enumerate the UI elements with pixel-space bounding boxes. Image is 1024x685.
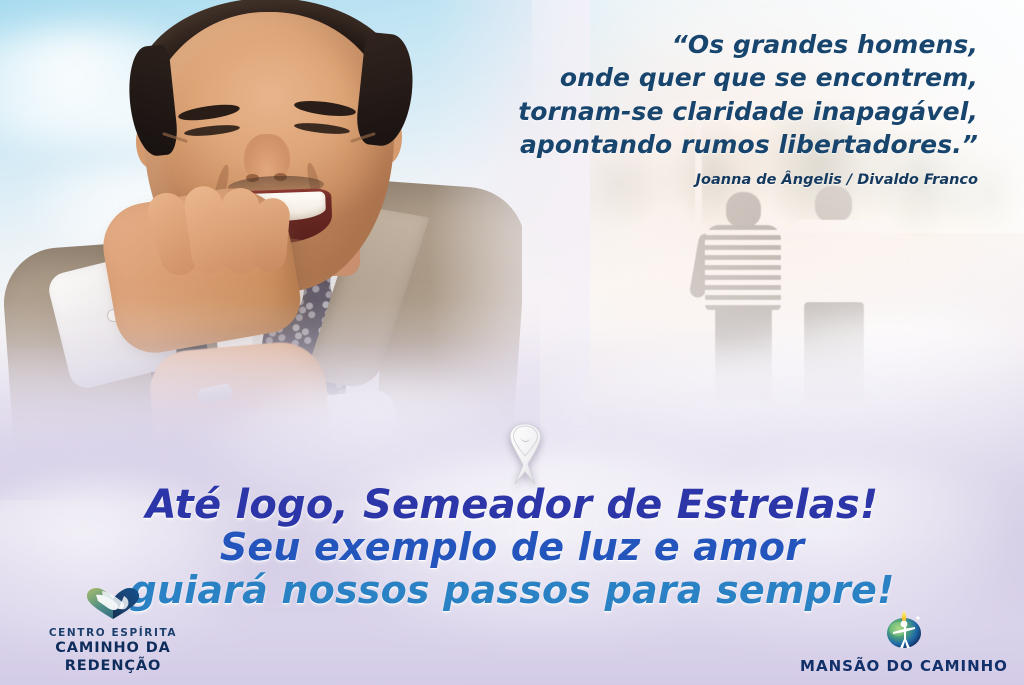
quote-attribution: Joanna de Ângelis / Divaldo Franco <box>418 172 978 188</box>
quote-line-3: tornam-se claridade inapagável, <box>418 95 978 128</box>
quote-block: “Os grandes homens, onde quer que se enc… <box>418 28 978 161</box>
logo-left-line-1: CENTRO ESPÍRITA <box>8 627 218 640</box>
globe-figure-flame-icon <box>796 606 1012 654</box>
logo-left-line-2: CAMINHO DA REDENÇÃO <box>8 640 218 675</box>
headline-line-2: Seu exemplo de luz e amor <box>0 526 1024 569</box>
quote-line-2: onde quer que se encontrem, <box>418 61 978 94</box>
logo-centro-espirita: CENTRO ESPÍRITA CAMINHO DA REDENÇÃO <box>8 586 218 675</box>
white-ribbon-icon <box>487 412 563 488</box>
quote-line-1: “Os grandes homens, <box>418 28 978 61</box>
logo-right-line-1: MANSÃO DO CAMINHO <box>796 657 1012 675</box>
headline-line-1: Até logo, Semeador de Estrelas! <box>0 484 1024 526</box>
logo-mansao-do-caminho: MANSÃO DO CAMINHO <box>796 606 1012 675</box>
memorial-poster: “Os grandes homens, onde quer que se enc… <box>0 0 1024 685</box>
quote-line-4: apontando rumos libertadores.” <box>418 128 978 161</box>
heart-clasped-hands-icon <box>8 586 218 624</box>
